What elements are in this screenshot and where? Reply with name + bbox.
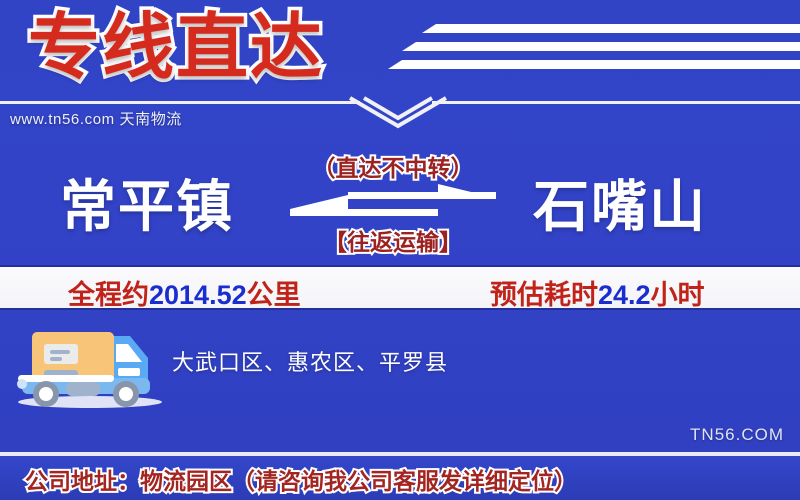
stripe-2 [402,42,800,51]
distance-value: 2014.52 [149,280,247,310]
stripe-1 [422,24,800,33]
duration-info: 预估耗时24.2小时 [490,273,705,312]
poster-header: 专线直达 www.tn56.com 天南物流 [0,0,800,105]
poster-footer: 公司地址：物流园区（请咨询我公司客服发详细定位） [0,456,800,500]
header-rule-right [432,101,800,104]
duration-value: 24.2 [598,280,651,310]
route-row: 常平镇 （直达不中转） 【往返运输】 石嘴山 [0,150,800,260]
watermark-label: TN56.COM [690,425,784,445]
distance-info: 全程约2014.52公里 [68,273,301,312]
chevron-down-icon [348,96,448,130]
stripe-3 [388,60,800,69]
bidirectional-arrow-icon [288,183,498,223]
website-brand-label: www.tn56.com 天南物流 [10,108,182,129]
duration-suffix: 小时 [651,280,705,310]
diagonal-stripes-icon [380,8,800,70]
coverage-districts: 大武口区、惠农区、平罗县 [172,345,448,377]
direct-transport-tag: （直达不中转） [313,149,474,183]
distance-suffix: 公里 [247,280,301,310]
round-trip-tag: 【往返运输】 [324,223,462,257]
company-address-label: 公司地址：物流园区（请咨询我公司客服发详细定位） [25,462,577,496]
delivery-truck-icon [8,318,168,410]
origin-city: 常平镇 [60,162,234,243]
route-middle: （直达不中转） 【往返运输】 [288,150,498,260]
page-title: 专线直达 [28,2,324,94]
logistics-route-poster: 专线直达 www.tn56.com 天南物流 常平镇 （直达不中转） 【往返运输… [0,0,800,500]
duration-prefix: 预估耗时 [490,280,598,310]
destination-city: 石嘴山 [533,162,707,243]
header-rule-left [0,101,360,104]
info-band: 全程约2014.52公里 预估耗时24.2小时 [0,265,800,310]
distance-prefix: 全程约 [68,280,149,310]
